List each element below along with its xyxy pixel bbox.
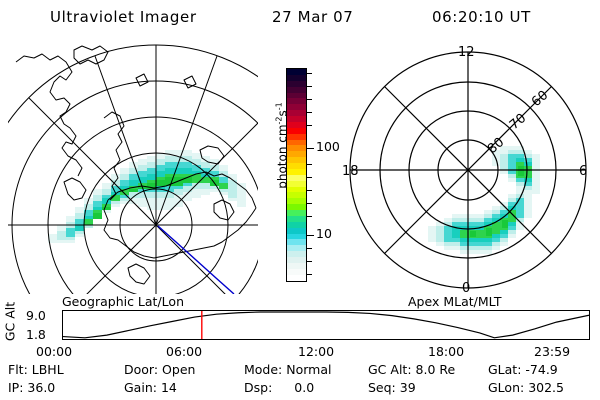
- colorbar-tick-10: [307, 235, 314, 236]
- mlat-label-70: 70: [507, 111, 529, 133]
- colorbar-minor-tick: [307, 112, 312, 113]
- time-axis: 00:00 06:00 12:00 18:00 23:59: [0, 344, 600, 360]
- strip-chart-ymin-label: 1.8: [26, 327, 46, 342]
- time-tick-3: 18:00: [428, 344, 464, 359]
- status-row-secondary: IP: 36.0 Gain: 14 Dsp: 0.0 Seq: 39 GLon:…: [0, 380, 600, 398]
- status-seq: Seq: 39: [368, 380, 416, 395]
- mlt-label-bottom: 0: [462, 281, 470, 294]
- time-tick-0: 00:00: [36, 344, 72, 359]
- geographic-plot-title: Geographic Lat/Lon: [62, 294, 184, 309]
- colorbar-minor-tick: [307, 261, 312, 262]
- apex-plot-title: Apex MLat/MLT: [408, 294, 502, 309]
- colorbar-minor-tick: [307, 99, 312, 100]
- status-mode: Mode: Normal: [244, 362, 332, 377]
- strip-chart-plot-area[interactable]: [62, 310, 590, 340]
- status-ip: IP: 36.0: [8, 380, 55, 395]
- status-door: Door: Open: [124, 362, 195, 377]
- mlat-label-60: 60: [529, 88, 551, 110]
- colorbar-minor-tick: [307, 190, 312, 191]
- uvi-display-window: Ultraviolet Imager 27 Mar 07 06:20:10 UT: [0, 0, 600, 400]
- status-row-primary: Flt: LBHL Door: Open Mode: Normal GC Alt…: [0, 362, 600, 380]
- colorbar-minor-tick: [307, 73, 312, 74]
- colorbar-bands: [287, 69, 306, 281]
- colorbar-minor-tick: [307, 164, 312, 165]
- status-glon: GLon: 302.5: [488, 380, 564, 395]
- mlt-label-left: 18: [342, 164, 359, 179]
- status-panel: Flt: LBHL Door: Open Mode: Normal GC Alt…: [0, 362, 600, 400]
- mlt-label-top: 12: [458, 45, 475, 60]
- colorbar-minor-tick: [307, 125, 312, 126]
- apex-plot[interactable]: 12 18 6 0 60 70 80: [340, 42, 596, 294]
- status-gain: Gain: 14: [124, 380, 177, 395]
- status-dsp: Dsp: 0.0: [244, 380, 314, 395]
- mlt-spokes: [350, 52, 586, 288]
- apex-plot-svg: 12 18 6 0 60 70 80: [340, 42, 596, 294]
- colorbar-ticklabel-100: 100: [316, 141, 340, 154]
- colorbar-minor-tick: [307, 216, 312, 217]
- strip-chart-svg: [63, 311, 589, 339]
- colorbar-gradient: [286, 68, 307, 282]
- status-flt: Flt: LBHL: [8, 362, 64, 377]
- colorbar-tick-100: [307, 148, 314, 149]
- gc-alt-trace: [63, 312, 589, 338]
- header-bar: Ultraviolet Imager 27 Mar 07 06:20:10 UT: [0, 4, 600, 32]
- geographic-plot-svg: [8, 42, 258, 294]
- colorbar-minor-tick: [307, 274, 312, 275]
- colorbar-panel: photon cm-2s-1 100 10: [258, 42, 340, 294]
- time-tick-4: 23:59: [534, 344, 570, 359]
- colorbar-minor-tick: [307, 86, 312, 87]
- observation-time: 06:20:10 UT: [432, 8, 531, 26]
- colorbar-ticklabel-10: 10: [316, 228, 332, 241]
- colorbar-band: [287, 275, 306, 281]
- strip-chart-ymax-label: 9.0: [26, 308, 46, 323]
- colorbar-minor-tick: [307, 177, 312, 178]
- status-glat: GLat: -74.9: [488, 362, 558, 377]
- mlt-label-right: 6: [579, 164, 587, 179]
- colorbar-minor-tick: [307, 203, 312, 204]
- gc-alt-strip-chart[interactable]: GC Alt 9.0 1.8: [0, 308, 600, 342]
- geographic-plot[interactable]: [8, 42, 258, 294]
- colorbar-minor-tick: [307, 248, 312, 249]
- status-gc-alt: GC Alt: 8.0 Re: [368, 362, 455, 377]
- strip-chart-ylabel: GC Alt: [3, 300, 18, 344]
- observation-date: 27 Mar 07: [272, 8, 353, 26]
- solar-terminator-line: [158, 226, 234, 294]
- instrument-title: Ultraviolet Imager: [50, 8, 197, 26]
- time-tick-2: 12:00: [298, 344, 334, 359]
- time-tick-1: 06:00: [166, 344, 202, 359]
